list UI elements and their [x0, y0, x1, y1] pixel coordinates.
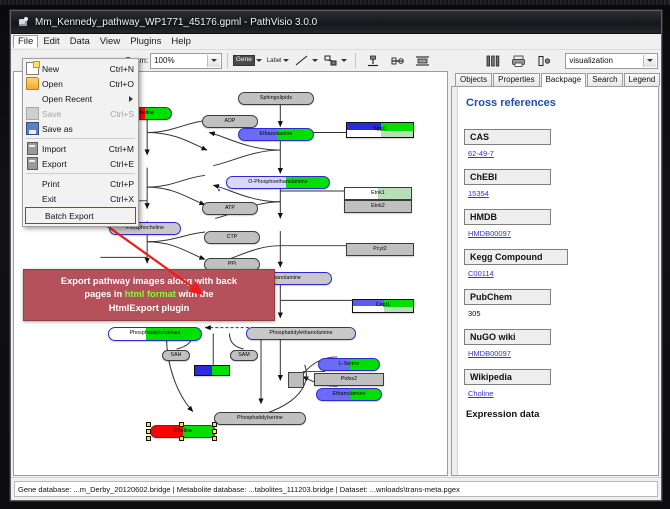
node-etnk2[interactable]: Etnk2 — [344, 200, 412, 213]
node-ctp[interactable]: CTP — [204, 231, 260, 244]
file-menu-label: Open — [42, 79, 103, 89]
node-ethanolamine-bottom[interactable]: Ethanolamine — [316, 388, 382, 401]
node-ptdss2[interactable]: Ptdss2 — [314, 373, 384, 386]
chevron-down-icon[interactable] — [312, 59, 318, 62]
datanode-icon[interactable]: Gene — [233, 55, 255, 66]
xref-database-name: ChEBI — [464, 169, 551, 185]
xref-value: 62-49-7 — [468, 149, 648, 158]
xref-database-name: Kegg Compound — [464, 249, 568, 265]
visualization-value: visualization — [569, 56, 613, 65]
menu-edit[interactable]: Edit — [38, 35, 64, 48]
file-menu-item-exit[interactable]: Exit Ctrl+X — [23, 191, 138, 206]
status-bar-text: Gene database: ...m_Derby_20120602.bridg… — [14, 481, 658, 497]
node-o-phosphoethanolamine[interactable]: O-Phosphoethanolamine — [226, 176, 330, 189]
panel-scroll-gutter[interactable] — [452, 87, 458, 475]
chevron-down-icon[interactable] — [283, 59, 289, 62]
node-phosphatidylserine[interactable]: Phosphatidylserine — [214, 412, 306, 425]
xref-link[interactable]: 62-49-7 — [468, 149, 494, 158]
node-pcyt2[interactable]: Pcyt2 — [346, 243, 414, 256]
interaction-icon[interactable] — [323, 52, 340, 69]
node-phosphatidylethanolamine[interactable]: Phosphatidylethanolamine — [246, 327, 356, 340]
file-menu-accelerator: Ctrl+X — [104, 194, 134, 204]
file-menu-accelerator: Ctrl+M — [103, 144, 134, 154]
callout-line-3: HtmlExport plugin — [109, 302, 190, 315]
annotation-callout: Export pathway images along with back pa… — [23, 269, 275, 321]
toolbar-separator — [227, 53, 228, 68]
xref-link[interactable]: 15354 — [468, 189, 489, 198]
menu-file[interactable]: File — [13, 35, 38, 48]
xref-nugo-wiki: NuGO wiki HMDB00097 — [464, 329, 648, 358]
chevron-down-icon[interactable] — [643, 55, 656, 67]
node-spacer — [218, 189, 220, 191]
xref-link[interactable]: HMDB00097 — [468, 229, 511, 238]
xref-link[interactable]: Choline — [468, 389, 493, 398]
file-menu-label: Save as — [42, 124, 128, 134]
xref-value: HMDB00097 — [468, 349, 648, 358]
file-menu-accelerator: Ctrl+P — [104, 179, 134, 189]
chevron-down-icon[interactable] — [256, 59, 262, 62]
xref-cas: CAS 62-49-7 — [464, 129, 648, 158]
distribute-horizontal-button[interactable] — [484, 52, 501, 69]
file-menu-separator — [26, 173, 135, 174]
resize-handle-e[interactable] — [212, 429, 217, 434]
save-as-icon — [23, 122, 42, 136]
pathway-anchor-node[interactable] — [288, 372, 304, 388]
tab-properties[interactable]: Properties — [493, 73, 539, 86]
node-sphingolipids[interactable]: Sphingolipids — [238, 92, 314, 105]
desktop-background: Mm_Kennedy_pathway_WP1771_45176.gpml - P… — [0, 0, 670, 509]
file-menu-label: Save — [42, 109, 104, 119]
zoom-combobox[interactable]: 100% — [150, 53, 222, 69]
callout-line-2-pre: pages in — [84, 289, 124, 299]
xref-link[interactable]: C00114 — [468, 269, 494, 278]
xref-value: HMDB00097 — [468, 229, 648, 238]
xref-value: 305 — [468, 309, 648, 318]
blank-icon — [26, 209, 45, 223]
node-pemt[interactable] — [194, 365, 230, 376]
file-menu-label: Print — [42, 179, 104, 189]
file-menu-label: Batch Export — [45, 211, 131, 221]
resize-handle-sw[interactable] — [146, 436, 151, 441]
align-top-button[interactable] — [364, 52, 381, 69]
node-cept1[interactable]: Cept1 — [352, 299, 414, 313]
resize-handle-s[interactable] — [179, 436, 184, 441]
import-icon — [23, 142, 42, 156]
node-sgpl1[interactable]: Sgpl1 — [346, 122, 414, 138]
file-menu-label: New — [42, 64, 104, 74]
save-icon — [23, 107, 42, 121]
side-panel: Objects Properties Backpage Search Legen… — [451, 71, 659, 476]
xref-hmdb: HMDB HMDB00097 — [464, 209, 648, 238]
menu-data[interactable]: Data — [65, 35, 95, 48]
file-menu-item-export[interactable]: Export Ctrl+E — [23, 156, 138, 171]
group-button[interactable] — [536, 52, 553, 69]
file-menu-label: Export — [42, 159, 104, 169]
file-menu-item-save: Save Ctrl+S — [23, 106, 138, 121]
stack-button[interactable] — [414, 52, 431, 69]
tab-backpage[interactable]: Backpage — [541, 73, 587, 87]
label-tool-split[interactable]: Label — [267, 58, 292, 64]
file-menu-label: Exit — [42, 194, 104, 204]
node-sah[interactable]: SAH — [162, 350, 190, 361]
node-atp[interactable]: ATP — [202, 202, 258, 215]
file-menu-separator — [26, 138, 135, 139]
callout-line-2: pages in html format with the — [84, 288, 213, 301]
chevron-down-icon[interactable] — [341, 59, 347, 62]
file-menu-item-open-recent[interactable]: Open Recent — [23, 91, 138, 106]
resize-handle-w[interactable] — [146, 429, 151, 434]
toolbar-separator — [355, 53, 356, 68]
node-adp[interactable]: ADP — [202, 115, 258, 128]
node-sam[interactable]: SAM — [230, 350, 258, 361]
chevron-down-icon[interactable] — [207, 55, 220, 67]
tab-legend[interactable]: Legend — [624, 73, 661, 86]
file-menu-item-new[interactable]: New Ctrl+N — [23, 61, 138, 76]
node-etnk1[interactable]: Etnk1 — [344, 187, 412, 200]
expression-data-heading: Expression data — [466, 409, 648, 420]
xref-link[interactable]: HMDB00097 — [468, 349, 511, 358]
xref-database-name: Wikipedia — [464, 369, 551, 385]
menu-help[interactable]: Help — [166, 35, 196, 48]
xref-database-name: HMDB — [464, 209, 551, 225]
window-title: Mm_Kennedy_pathway_WP1771_45176.gpml - P… — [35, 17, 317, 28]
file-menu-item-print[interactable]: Print Ctrl+P — [23, 176, 138, 191]
xref-pubchem: PubChem 305 — [464, 289, 648, 318]
pathvisio-application-window: Mm_Kennedy_pathway_WP1771_45176.gpml - P… — [10, 10, 662, 501]
file-menu-accelerator: Ctrl+O — [103, 79, 134, 89]
chevron-right-icon — [129, 96, 133, 102]
xref-value: Choline — [468, 389, 648, 398]
xref-database-name: NuGO wiki — [464, 329, 551, 345]
side-panel-tabstrip: Objects Properties Backpage Search Legen… — [451, 71, 659, 87]
menu-plugins[interactable]: Plugins — [125, 35, 166, 48]
export-icon — [23, 157, 42, 171]
node-ethanolamine-top[interactable]: Ethanolamine — [238, 128, 314, 141]
new-document-icon — [23, 62, 42, 76]
xref-wikipedia: Wikipedia Choline — [464, 369, 648, 398]
file-menu-label: Open Recent — [42, 94, 129, 104]
cross-references-title: Cross references — [466, 97, 648, 109]
status-bar: Gene database: ...m_Derby_20120602.bridg… — [11, 477, 661, 500]
align-middle-button[interactable] — [389, 52, 406, 69]
file-menu-item-import[interactable]: Import Ctrl+M — [23, 141, 138, 156]
print-button[interactable] — [510, 52, 527, 69]
xref-database-name: CAS — [464, 129, 551, 145]
callout-line-2-post: with the — [176, 289, 214, 299]
callout-highlight: html format — [125, 289, 176, 299]
blank-icon — [23, 177, 42, 191]
open-folder-icon — [23, 77, 42, 91]
label-tool-label[interactable]: Label — [267, 58, 282, 64]
visualization-combobox[interactable]: visualization — [565, 53, 658, 69]
xref-chebi: ChEBI 15354 — [464, 169, 648, 198]
zoom-value: 100% — [154, 56, 174, 65]
pathvisio-app-icon — [17, 16, 30, 29]
selection-handles[interactable]: Choline — [146, 421, 220, 441]
menu-view[interactable]: View — [95, 35, 125, 48]
line-icon[interactable] — [294, 52, 311, 69]
tab-search[interactable]: Search — [587, 73, 622, 86]
blank-icon — [23, 92, 42, 106]
file-menu-accelerator: Ctrl+E — [104, 159, 134, 169]
file-menu-accelerator: Ctrl+N — [104, 64, 134, 74]
file-menu-accelerator: Ctrl+S — [104, 109, 134, 119]
file-menu-item-open[interactable]: Open Ctrl+O — [23, 76, 138, 91]
resize-handle-se[interactable] — [212, 436, 217, 441]
file-menu-item-save-as[interactable]: Save as — [23, 121, 138, 136]
resize-handle-ne[interactable] — [212, 422, 217, 427]
file-menu-dropdown[interactable]: New Ctrl+N Open Ctrl+O Open Recent Save … — [22, 58, 139, 227]
resize-handle-n[interactable] — [179, 422, 184, 427]
file-menu-label: Import — [42, 144, 103, 154]
datanode-tool-split[interactable]: Gene — [233, 55, 265, 66]
node-l-serine[interactable]: L-Serine — [318, 358, 380, 371]
tab-objects[interactable]: Objects — [455, 73, 492, 86]
xref-database-name: PubChem — [464, 289, 551, 305]
blank-icon — [23, 192, 42, 206]
xref-value: C00114 — [468, 269, 648, 278]
backpage-content: Cross references CAS 62-49-7 ChEBI 15354… — [451, 87, 659, 476]
callout-line-1: Export pathway images along with back — [61, 275, 237, 288]
line-tool-split[interactable] — [294, 52, 321, 69]
window-title-bar: Mm_Kennedy_pathway_WP1771_45176.gpml - P… — [11, 11, 661, 34]
node-phosphatidylcholines[interactable]: Phosphatidylcholines — [108, 327, 202, 341]
resize-handle-nw[interactable] — [146, 422, 151, 427]
file-menu-item-batch-export[interactable]: Batch Export — [25, 207, 136, 224]
xref-kegg-compound: Kegg Compound C00114 — [464, 249, 648, 278]
interaction-tool-split[interactable] — [323, 52, 350, 69]
xref-value: 15354 — [468, 189, 648, 198]
menu-bar: File Edit Data View Plugins Help — [11, 34, 661, 50]
